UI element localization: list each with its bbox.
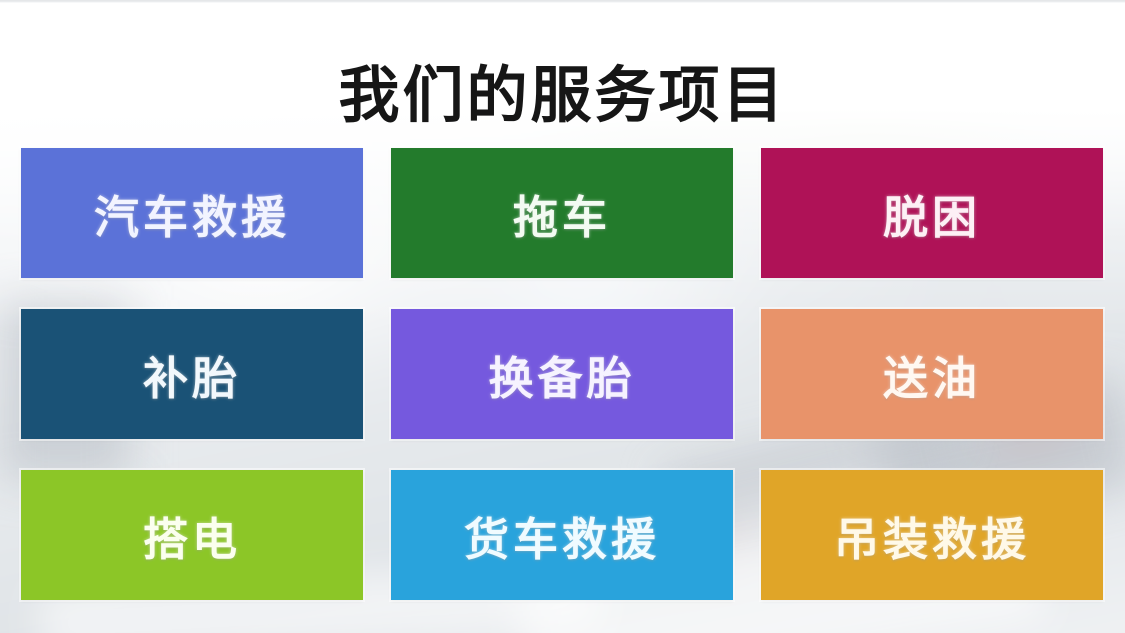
service-tile-label: 搭电	[143, 503, 241, 568]
service-tile-label: 脱困	[883, 181, 981, 246]
service-tile-label: 汽车救援	[94, 181, 290, 246]
service-tile-hoisting-rescue[interactable]: 吊装救援	[761, 470, 1103, 600]
service-tile-spare-tire-change[interactable]: 换备胎	[391, 309, 733, 439]
service-tile-tow-truck[interactable]: 拖车	[391, 148, 733, 278]
top-divider	[0, 0, 1125, 3]
service-tile-label: 补胎	[143, 342, 241, 407]
service-tile-extrication[interactable]: 脱困	[761, 148, 1103, 278]
service-tile-label: 送油	[883, 342, 981, 407]
service-tile-truck-rescue[interactable]: 货车救援	[391, 470, 733, 600]
service-tile-label: 换备胎	[488, 342, 635, 407]
service-tile-label: 货车救援	[464, 503, 660, 568]
service-tile-fuel-delivery[interactable]: 送油	[761, 309, 1103, 439]
service-tile-jump-start[interactable]: 搭电	[21, 470, 363, 600]
service-tile-car-rescue[interactable]: 汽车救援	[21, 148, 363, 278]
service-grid: 汽车救援 拖车 脱困 补胎 换备胎 送油 搭电 货车救援 吊装救援	[21, 148, 1102, 600]
service-poster: 我们的服务项目 汽车救援 拖车 脱困 补胎 换备胎 送油 搭电 货车救援 吊装救…	[0, 0, 1125, 633]
service-tile-label: 拖车	[513, 181, 611, 246]
service-tile-tire-repair[interactable]: 补胎	[21, 309, 363, 439]
service-tile-label: 吊装救援	[834, 503, 1030, 568]
page-title: 我们的服务项目	[0, 63, 1125, 127]
